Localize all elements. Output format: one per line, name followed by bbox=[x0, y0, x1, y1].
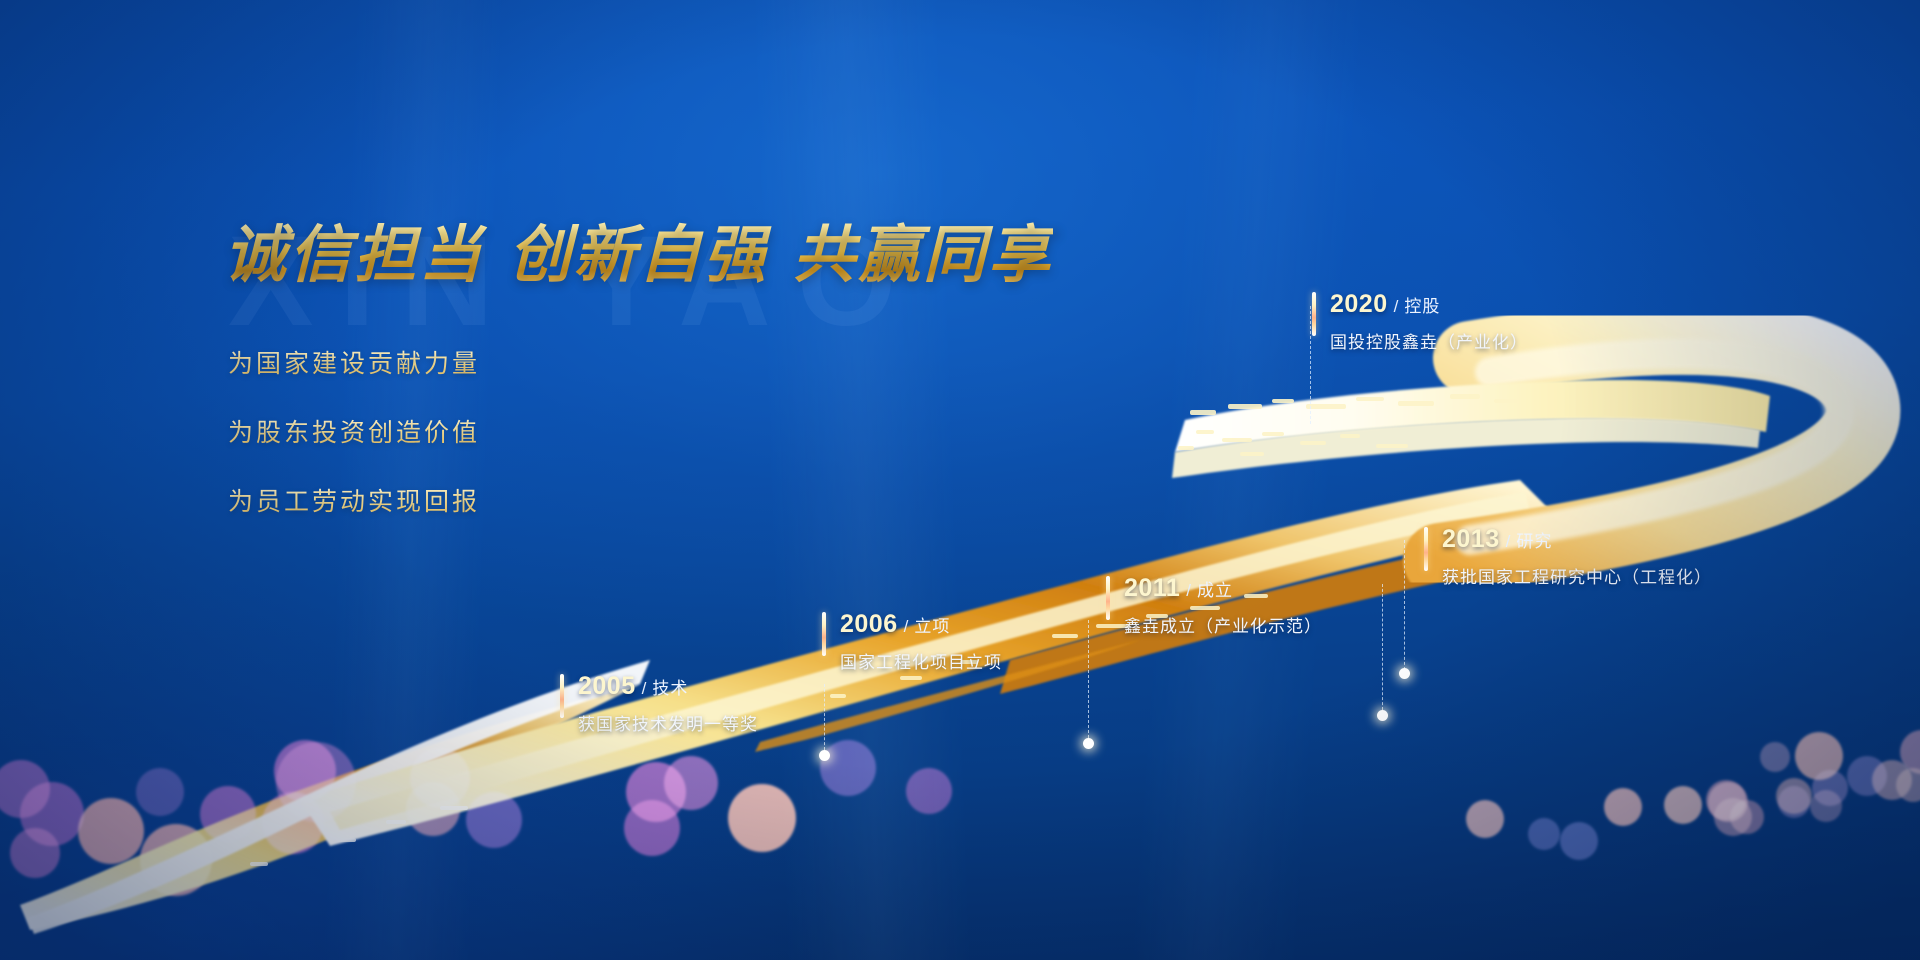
event-year: 2013 bbox=[1442, 525, 1500, 553]
timeline-event-2006[interactable]: 2006 / 立项 国家工程化项目立项 bbox=[822, 610, 1002, 673]
event-accent-bar bbox=[560, 674, 564, 718]
event-description: 获国家技术发明一等奖 bbox=[578, 710, 758, 735]
timeline-leader-2005 bbox=[824, 684, 825, 750]
event-description: 鑫垚成立（产业化示范） bbox=[1124, 612, 1322, 637]
slogan-item-1: 为国家建设贡献力量 bbox=[228, 344, 480, 380]
event-separator: / bbox=[1500, 532, 1517, 551]
timeline-leader-2020 bbox=[1310, 306, 1311, 424]
event-year: 2006 bbox=[840, 610, 898, 638]
event-separator: / bbox=[1388, 297, 1405, 316]
event-heading: 2020 / 控股 bbox=[1330, 290, 1528, 319]
timeline-event-2011[interactable]: 2011 / 成立 鑫垚成立（产业化示范） bbox=[1106, 574, 1322, 637]
timeline-event-2013[interactable]: 2013 / 研究 获批国家工程研究中心（工程化） bbox=[1424, 525, 1712, 588]
event-separator: / bbox=[636, 679, 653, 698]
poster-canvas: XIN YAO 诚信担当 创新自强 共赢同享 为国家建设贡献力量 为股东投资创造… bbox=[0, 0, 1920, 960]
event-accent-bar bbox=[1424, 527, 1428, 571]
event-year: 2011 bbox=[1124, 574, 1180, 602]
timeline-dot-2013 bbox=[1399, 668, 1410, 679]
slogan-item-3: 为员工劳动实现回报 bbox=[228, 482, 480, 518]
timeline-event-2020[interactable]: 2020 / 控股 国投控股鑫垚（产业化） bbox=[1312, 290, 1528, 353]
event-description: 国家工程化项目立项 bbox=[840, 648, 1002, 673]
event-year: 2020 bbox=[1330, 290, 1388, 318]
timeline-dot-2006 bbox=[1083, 738, 1094, 749]
event-heading: 2013 / 研究 bbox=[1442, 525, 1712, 554]
event-description: 国投控股鑫垚（产业化） bbox=[1330, 328, 1528, 353]
event-kind: 研究 bbox=[1516, 532, 1552, 551]
event-description: 获批国家工程研究中心（工程化） bbox=[1442, 563, 1712, 588]
slogan-list: 为国家建设贡献力量 为股东投资创造价值 为员工劳动实现回报 bbox=[228, 344, 480, 551]
timeline-event-2005[interactable]: 2005 / 技术 获国家技术发明一等奖 bbox=[560, 672, 758, 735]
event-separator: / bbox=[1180, 581, 1197, 600]
slogan-item-2: 为股东投资创造价值 bbox=[228, 413, 480, 449]
event-heading: 2011 / 成立 bbox=[1124, 574, 1322, 603]
event-separator: / bbox=[898, 617, 915, 636]
event-heading: 2006 / 立项 bbox=[840, 610, 1002, 639]
event-kind: 技术 bbox=[652, 679, 688, 698]
event-kind: 控股 bbox=[1404, 297, 1440, 316]
timeline-dot-2005 bbox=[819, 750, 830, 761]
timeline-leader-2011 bbox=[1382, 584, 1383, 710]
event-kind: 立项 bbox=[914, 617, 950, 636]
page-title: 诚信担当 创新自强 共赢同享 bbox=[224, 204, 1053, 294]
event-accent-bar bbox=[822, 612, 826, 656]
event-kind: 成立 bbox=[1197, 581, 1233, 600]
event-year: 2005 bbox=[578, 672, 636, 700]
timeline-leader-2013 bbox=[1404, 540, 1405, 670]
timeline-dot-2011 bbox=[1377, 710, 1388, 721]
event-heading: 2005 / 技术 bbox=[578, 672, 758, 701]
timeline-leader-2006 bbox=[1088, 620, 1089, 738]
event-accent-bar bbox=[1312, 292, 1316, 336]
event-accent-bar bbox=[1106, 576, 1110, 620]
